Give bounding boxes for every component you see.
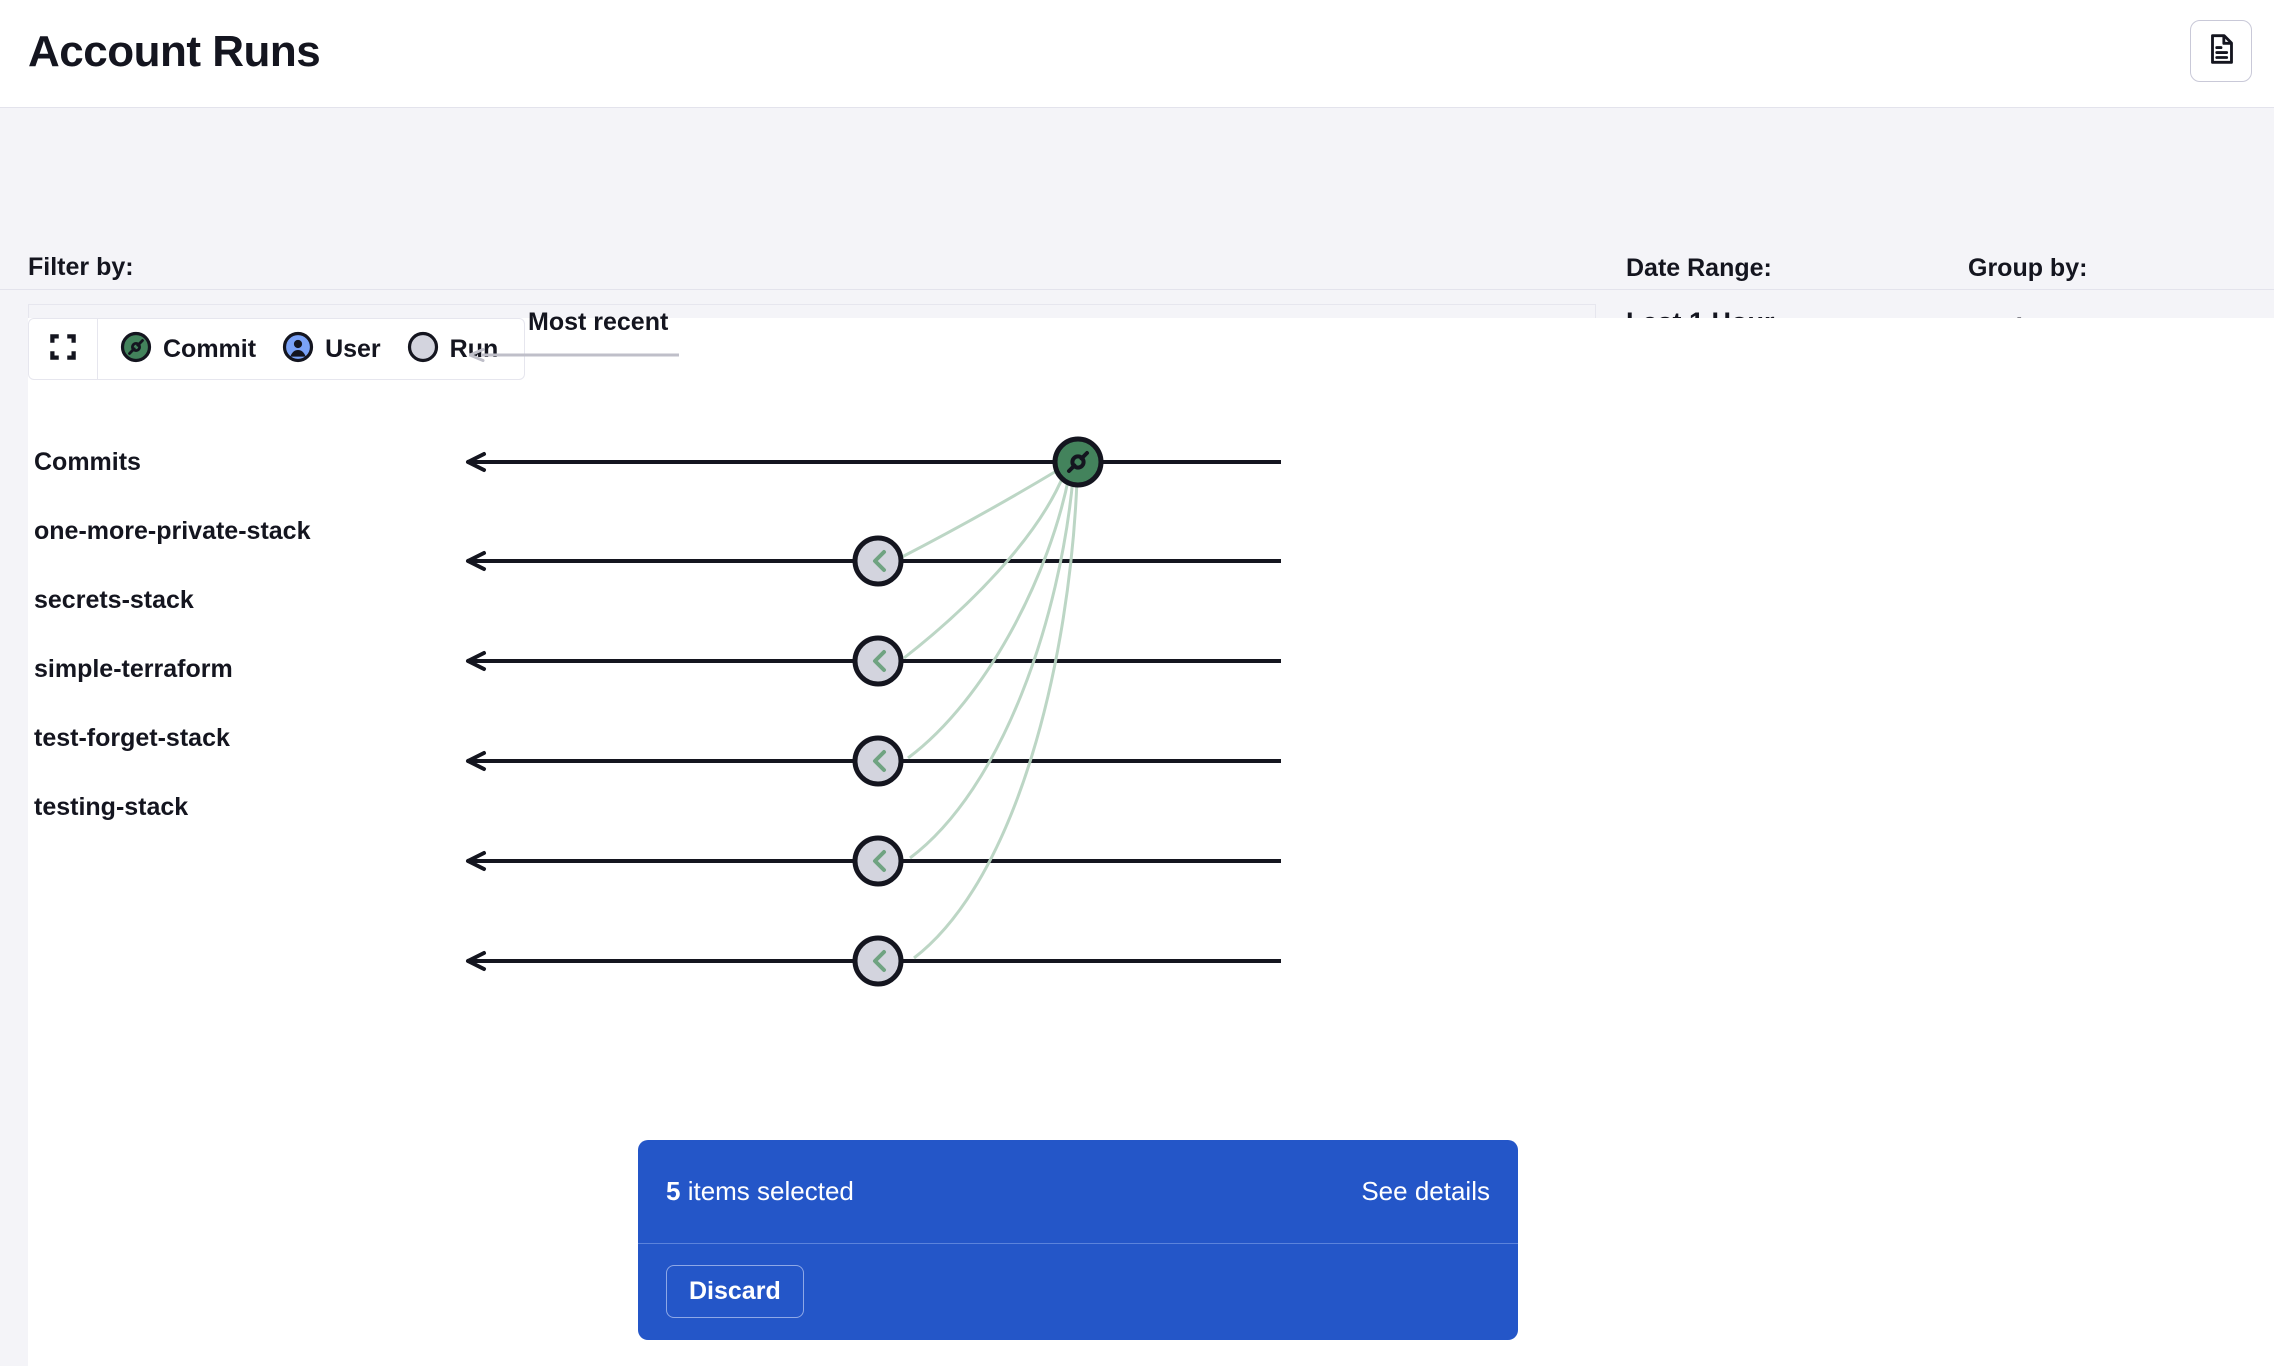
axis-arrow-icon (469, 348, 679, 362)
legend-items: Commit User Run (98, 319, 524, 379)
selection-count-suffix: items selected (680, 1176, 853, 1206)
page-header: Account Runs (0, 0, 2274, 108)
page-title: Account Runs (28, 20, 320, 84)
selection-toast: 5 items selected See details Discard (638, 1140, 1518, 1340)
timeline-axes (468, 454, 1281, 969)
axis-label-most-recent: Most recent (528, 308, 668, 337)
user-icon (282, 331, 314, 368)
legend-label-user: User (325, 335, 381, 364)
run-node-button-testing-stack[interactable] (852, 935, 904, 987)
run-node-button-simple-terraform[interactable] (852, 735, 904, 787)
commit-icon (120, 331, 152, 368)
commit-edges (900, 470, 1077, 958)
legend-bar: Commit User Run (28, 318, 525, 380)
group-by-label: Group by: (1968, 253, 2274, 283)
row-label-simple-terraform: simple-terraform (34, 655, 233, 684)
legend-label-commit: Commit (163, 335, 256, 364)
selection-toast-actions: Discard (638, 1244, 1518, 1339)
run-icon (407, 331, 439, 368)
legend-item-commit[interactable]: Commit (120, 331, 256, 368)
row-label-testing-stack: testing-stack (34, 793, 188, 822)
see-details-link[interactable]: See details (1361, 1176, 1490, 1207)
run-node-button-test-forget-stack[interactable] (852, 835, 904, 887)
date-range-label: Date Range: (1626, 253, 1946, 283)
legend-item-user[interactable]: User (282, 331, 381, 368)
run-node-button-secrets-stack[interactable] (852, 635, 904, 687)
discard-button[interactable]: Discard (666, 1265, 804, 1318)
selection-count: 5 items selected (666, 1176, 854, 1207)
document-button[interactable] (2190, 20, 2252, 82)
document-icon (2204, 32, 2238, 71)
filter-bar: Filter by: + Add filter Date Range: Last… (0, 108, 2274, 290)
fullscreen-button[interactable] (29, 319, 98, 379)
row-label-one-more-private-stack: one-more-private-stack (34, 517, 310, 546)
run-node-button-one-more-private-stack[interactable] (852, 535, 904, 587)
fullscreen-icon (46, 330, 80, 369)
commit-node-button[interactable] (1052, 436, 1104, 488)
filter-by-label: Filter by: (28, 253, 134, 282)
row-label-test-forget-stack: test-forget-stack (34, 724, 230, 753)
row-label-secrets-stack: secrets-stack (34, 586, 194, 615)
selection-count-number: 5 (666, 1176, 680, 1206)
row-label-commits: Commits (34, 448, 141, 477)
selection-toast-header: 5 items selected See details (638, 1140, 1518, 1244)
